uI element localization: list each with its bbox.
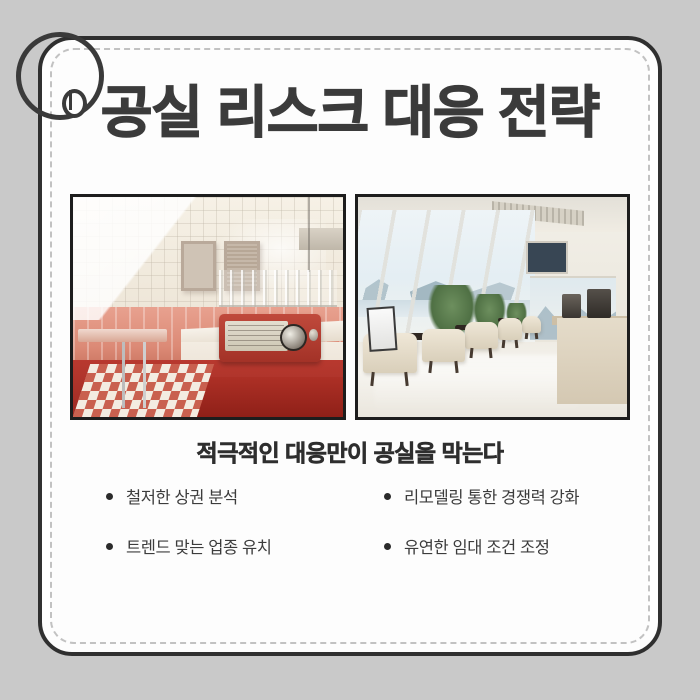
diner-table-leg-1	[122, 342, 125, 408]
lounge-armchair-3	[465, 322, 497, 348]
photo-right-frame[interactable]	[355, 194, 631, 420]
bullet-dot-icon	[384, 543, 391, 550]
bullet-dot-icon	[106, 493, 113, 500]
page-title: 공실 리스크 대응 전략	[38, 84, 662, 143]
lounge-armchair-5	[522, 316, 541, 334]
bullet-item-3: 트렌드 맞는 업종 유치	[72, 534, 350, 558]
diner-table	[78, 329, 167, 342]
photo-right-image	[358, 197, 628, 417]
radio-face	[225, 321, 288, 351]
photo-left-frame[interactable]	[70, 194, 346, 420]
bullet-label-1: 철저한 상권 분석	[126, 484, 238, 508]
bullet-item-4: 유연한 임대 조건 조정	[350, 534, 628, 558]
lounge-menu-board	[367, 306, 398, 351]
diner-table-leg-2	[143, 342, 146, 408]
photo-row	[70, 194, 630, 420]
bullet-item-2: 리모델링 통한 경쟁력 강화	[350, 484, 628, 508]
wall-tv-screen	[526, 241, 568, 274]
radio-knob	[309, 329, 318, 341]
espresso-machine-2	[562, 294, 581, 318]
bullet-dot-icon	[384, 493, 391, 500]
diner-sunlight	[73, 197, 267, 320]
lounge-bar-counter	[557, 318, 627, 404]
diner-hanging-rail	[308, 197, 310, 272]
bullet-label-3: 트렌드 맞는 업종 유치	[126, 534, 272, 558]
bullet-list: 철저한 상권 분석 리모델링 통한 경쟁력 강화 트렌드 맞는 업종 유치 유연…	[72, 484, 628, 558]
bullet-dot-icon	[106, 543, 113, 550]
bullet-item-1: 철저한 상권 분석	[72, 484, 350, 508]
note-card-wrapper: 공실 리스크 대응 전략	[38, 36, 662, 656]
lounge-armchair-4	[498, 318, 522, 340]
photo-left-image	[73, 197, 343, 417]
espresso-machine-1	[587, 289, 611, 318]
lounge-armchair-2	[422, 329, 465, 362]
card-content: 공실 리스크 대응 전략	[38, 36, 662, 656]
binder-eyelet-icon	[62, 89, 87, 118]
bullet-label-2: 리모델링 통한 경쟁력 강화	[404, 484, 579, 508]
bullet-label-4: 유연한 임대 조건 조정	[404, 534, 550, 558]
diner-ceiling-box	[299, 228, 342, 250]
subtitle: 적극적인 대응만이 공실을 막는다	[38, 434, 662, 468]
vintage-radio	[219, 314, 321, 362]
radio-dial	[280, 324, 307, 351]
